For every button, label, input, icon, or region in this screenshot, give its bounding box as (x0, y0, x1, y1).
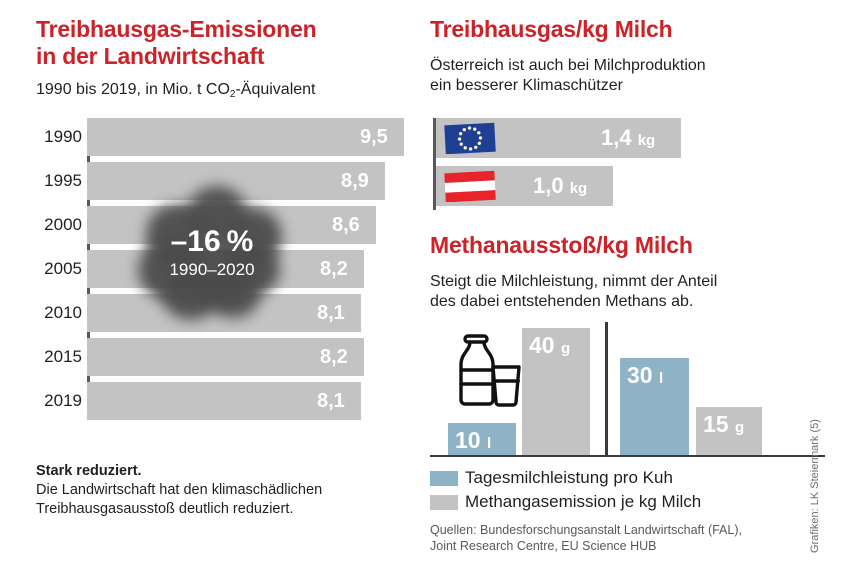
left-panel-title: Treibhausgas-Emissionen in der Landwirts… (36, 16, 396, 70)
ghg-bar-unit: kg (570, 180, 588, 197)
methane-chart-legend: Tagesmilchleistung pro KuhMethangasemiss… (430, 466, 820, 514)
methane-low-yield-bar: 40 g (522, 328, 590, 455)
milk-yield-high-unit: l (659, 370, 663, 387)
emissions-bar-value: 8,2 (320, 250, 348, 288)
emissions-bar-value: 8,9 (341, 162, 369, 200)
methane-sub-line1: Steigt die Milchleistung, nimmt der Ante… (430, 272, 800, 292)
austria-flag-icon (444, 170, 496, 202)
ghg-bar-number: 1,4 (601, 125, 632, 150)
emissions-bar-value: 8,2 (320, 338, 348, 376)
methane-bar-chart: 10 l40 g30 l15 g (430, 322, 825, 457)
methane-high-yield-bar: 15 g (696, 407, 762, 455)
ghg-per-kg-title: Treibhausgas/kg Milch (430, 16, 820, 43)
graphic-credit: Grafiken: LK Steiermark (5) (809, 406, 821, 566)
bar-year-label: 1995 (36, 162, 82, 200)
ghg-per-kg-subtitle: Österreich ist auch bei Milchproduktion … (430, 56, 790, 96)
ghg-flag-bar-row: 1,4 kg (436, 118, 681, 158)
emissions-bar-value: 8,1 (317, 382, 345, 420)
methane-high-yield-value: 15 (703, 411, 729, 437)
eu-flag-icon (444, 122, 496, 154)
milk-yield-high-bar: 30 l (620, 358, 689, 455)
emissions-bar-value: 8,1 (317, 294, 345, 332)
emissions-bar-row: 20198,1 (36, 382, 386, 420)
bar-year-label: 2010 (36, 294, 82, 332)
ghg-emissions-panel: Treibhausgas-Emissionen in der Landwirts… (0, 0, 420, 584)
note-line-2: Treibhausgasausstoß deutlich reduziert. (36, 500, 396, 519)
ghg-bar-unit: kg (638, 132, 656, 149)
left-title-line2: in der Landwirtschaft (36, 43, 396, 70)
ghg-sub-line1: Österreich ist auch bei Milchproduktion (430, 56, 790, 76)
emissions-bar-value: 9,5 (360, 118, 388, 156)
legend-swatch (430, 471, 458, 486)
emissions-bar-row: 20008,6 (36, 206, 386, 244)
milk-yield-low-value: 10 (455, 427, 481, 453)
milk-yield-low-label: 10 l (455, 427, 491, 454)
emissions-bar-row: 20158,2 (36, 338, 386, 376)
note-line-1: Die Landwirtschaft hat den klimaschädlic… (36, 481, 396, 500)
milk-yield-high-value: 30 (627, 362, 653, 388)
methane-low-yield-value: 40 (529, 332, 555, 358)
ghg-bar-number: 1,0 (533, 173, 564, 198)
left-title-line1: Treibhausgas-Emissionen (36, 16, 396, 43)
ghg-bar-value: 1,4 kg (601, 118, 655, 158)
bar-year-label: 2019 (36, 382, 82, 420)
ghg-sub-line2: ein besserer Klimaschützer (430, 76, 790, 96)
sources-line-1: Quellen: Bundesforschungsanstalt Landwir… (430, 522, 810, 538)
ghg-flag-bar-row: 1,0 kg (436, 166, 613, 206)
infographic-page: Treibhausgas-Emissionen in der Landwirts… (0, 0, 845, 584)
subtitle-pre: 1990 bis 2019, in Mio. t CO (36, 81, 230, 98)
note-headline: Stark reduziert. (36, 462, 396, 481)
methane-low-yield-unit: g (561, 340, 570, 357)
bar-year-label: 1990 (36, 118, 82, 156)
methane-high-yield-unit: g (735, 419, 744, 436)
methane-chart-baseline (430, 455, 825, 457)
emissions-bar (87, 118, 404, 156)
left-panel-note: Stark reduziert. Die Landwirtschaft hat … (36, 462, 396, 519)
legend-label: Methangasemission je kg Milch (465, 491, 701, 513)
subtitle-post: -Äquivalent (235, 81, 315, 98)
emissions-bar-row: 20058,2 (36, 250, 386, 288)
emissions-bar-row: 20108,1 (36, 294, 386, 332)
sources-line-2: Joint Research Centre, EU Science HUB (430, 538, 810, 554)
legend-label: Tagesmilchleistung pro Kuh (465, 467, 673, 489)
milk-yield-low-bar: 10 l (448, 423, 516, 455)
methane-title: Methanausstoß/kg Milch (430, 232, 820, 259)
methane-sub-line2: des dabei entstehenden Methans ab. (430, 292, 800, 312)
emissions-bar-chart: 19909,519958,920008,620058,220108,120158… (36, 118, 386, 436)
methane-low-yield-label: 40 g (529, 332, 570, 359)
emissions-bar-row: 19958,9 (36, 162, 386, 200)
milk-yield-low-unit: l (487, 435, 491, 452)
milk-panel: Treibhausgas/kg Milch Österreich ist auc… (425, 0, 825, 584)
methane-chart-divider (605, 322, 608, 455)
ghg-bar-value: 1,0 kg (533, 166, 587, 206)
ghg-per-kg-chart: 1,4 kg1,0 kg (430, 118, 820, 210)
legend-swatch (430, 495, 458, 510)
left-panel-subtitle: 1990 bis 2019, in Mio. t CO2-Äquivalent (36, 80, 406, 105)
methane-high-yield-label: 15 g (703, 411, 744, 438)
emissions-bar-value: 8,6 (332, 206, 360, 244)
sources-note: Quellen: Bundesforschungsanstalt Landwir… (430, 522, 810, 554)
emissions-bar-row: 19909,5 (36, 118, 386, 156)
milk-bottle-icon (452, 332, 524, 410)
legend-item: Tagesmilchleistung pro Kuh (430, 466, 820, 490)
milk-yield-high-label: 30 l (627, 362, 663, 389)
bar-year-label: 2005 (36, 250, 82, 288)
methane-subtitle: Steigt die Milchleistung, nimmt der Ante… (430, 272, 800, 312)
bar-year-label: 2000 (36, 206, 82, 244)
legend-item: Methangasemission je kg Milch (430, 490, 820, 514)
bar-year-label: 2015 (36, 338, 82, 376)
